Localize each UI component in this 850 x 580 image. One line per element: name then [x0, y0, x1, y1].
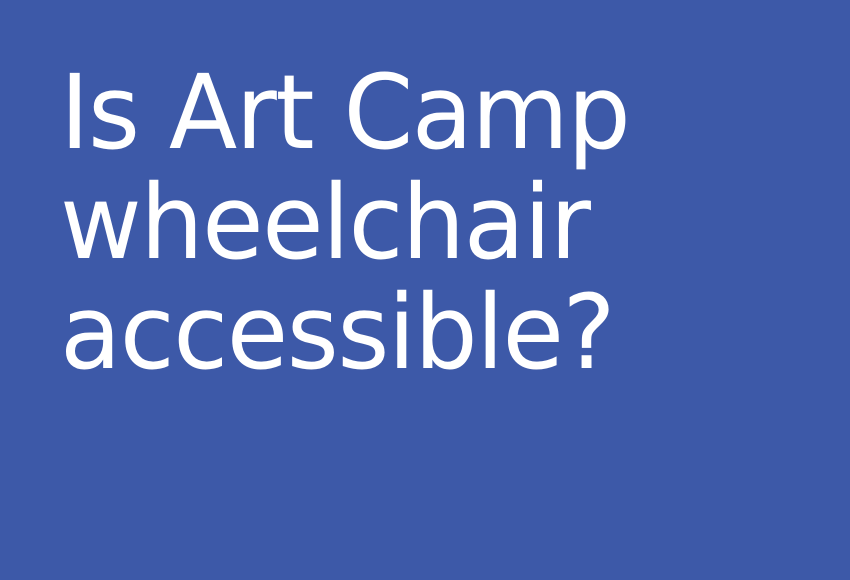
headline-line-2: wheelchair	[60, 168, 797, 278]
headline-line-3: accessible?	[60, 278, 797, 388]
headline-line-1: Is Art Camp	[60, 58, 797, 168]
slide-canvas: Is Art Camp wheelchair accessible?	[0, 0, 850, 580]
headline-block: Is Art Camp wheelchair accessible?	[60, 58, 820, 388]
